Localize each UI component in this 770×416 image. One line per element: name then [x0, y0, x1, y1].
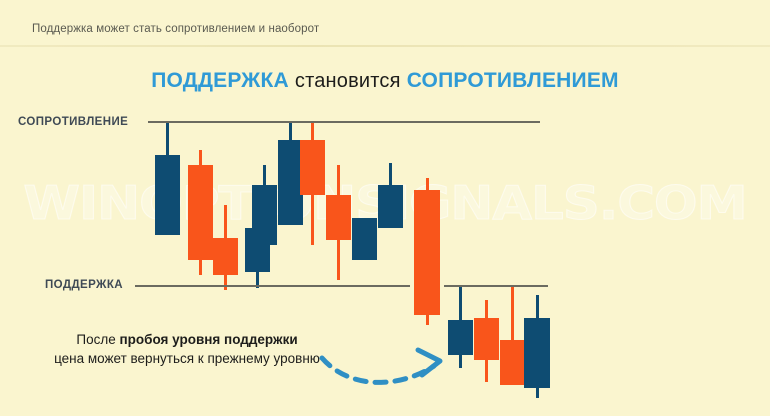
- resistance-label: СОПРОТИВЛЕНИЕ: [18, 116, 128, 128]
- retest-line: [444, 285, 548, 287]
- support-line: [135, 285, 410, 287]
- candlestick-body: [414, 190, 440, 315]
- retest-arrow-icon: [318, 344, 458, 392]
- caption-line1-plain: После: [76, 332, 119, 347]
- candlestick-body: [474, 318, 499, 360]
- candlestick-body: [188, 165, 213, 260]
- candlestick-body: [500, 340, 525, 385]
- candlestick-body: [352, 218, 377, 260]
- candlestick-body: [378, 185, 403, 228]
- caption-line1-bold: пробоя уровня поддержки: [119, 332, 297, 347]
- support-label: ПОДДЕРЖКА: [45, 279, 123, 291]
- candlestick-body: [326, 195, 351, 240]
- candlestick-body: [252, 185, 277, 245]
- candlestick-body: [213, 238, 238, 275]
- candlestick-body: [524, 318, 550, 388]
- candlestick-body: [300, 140, 325, 195]
- caption-block: После пробоя уровня поддержки цена может…: [22, 330, 352, 368]
- infographic-root: Поддержка может стать сопротивлением и н…: [0, 0, 770, 416]
- candlestick-body: [155, 155, 180, 235]
- resistance-line: [148, 121, 540, 123]
- caption-line2: цена может вернуться к прежнему уровню: [54, 351, 320, 366]
